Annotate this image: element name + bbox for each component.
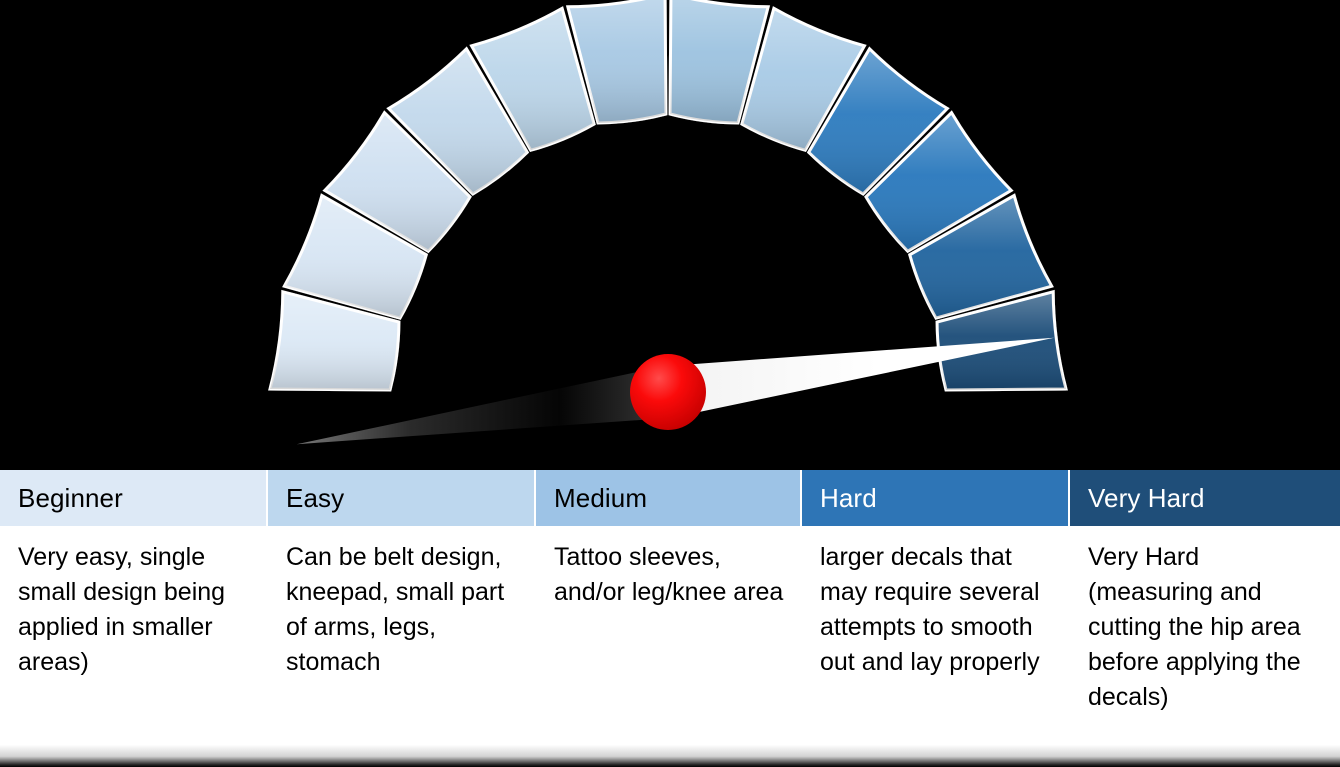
difficulty-gauge — [0, 0, 1340, 470]
table-header-medium[interactable]: Medium — [536, 470, 802, 526]
table-header-row: BeginnerEasyMediumHardVery Hard — [0, 470, 1340, 526]
needle-hub — [630, 354, 706, 430]
table-header-beginner[interactable]: Beginner — [0, 470, 268, 526]
table-cell-very-hard: Very Hard (measuring and cutting the hip… — [1070, 526, 1340, 760]
table-header-easy[interactable]: Easy — [268, 470, 536, 526]
table-cell-hard: larger decals that may require several a… — [802, 526, 1070, 760]
difficulty-table: BeginnerEasyMediumHardVery Hard Very eas… — [0, 470, 1340, 760]
table-header-hard[interactable]: Hard — [802, 470, 1070, 526]
table-header-very-hard[interactable]: Very Hard — [1070, 470, 1340, 526]
table-row: Very easy, single small design being app… — [0, 526, 1340, 760]
table-cell-medium: Tattoo sleeves, and/or leg/knee area — [536, 526, 802, 760]
slide-canvas: BeginnerEasyMediumHardVery Hard Very eas… — [0, 0, 1340, 767]
table-cell-beginner: Very easy, single small design being app… — [0, 526, 268, 760]
table-cell-easy: Can be belt design, kneepad, small part … — [268, 526, 536, 760]
gauge-sheen-overlay — [270, 0, 1066, 390]
gauge-container — [0, 0, 1340, 470]
